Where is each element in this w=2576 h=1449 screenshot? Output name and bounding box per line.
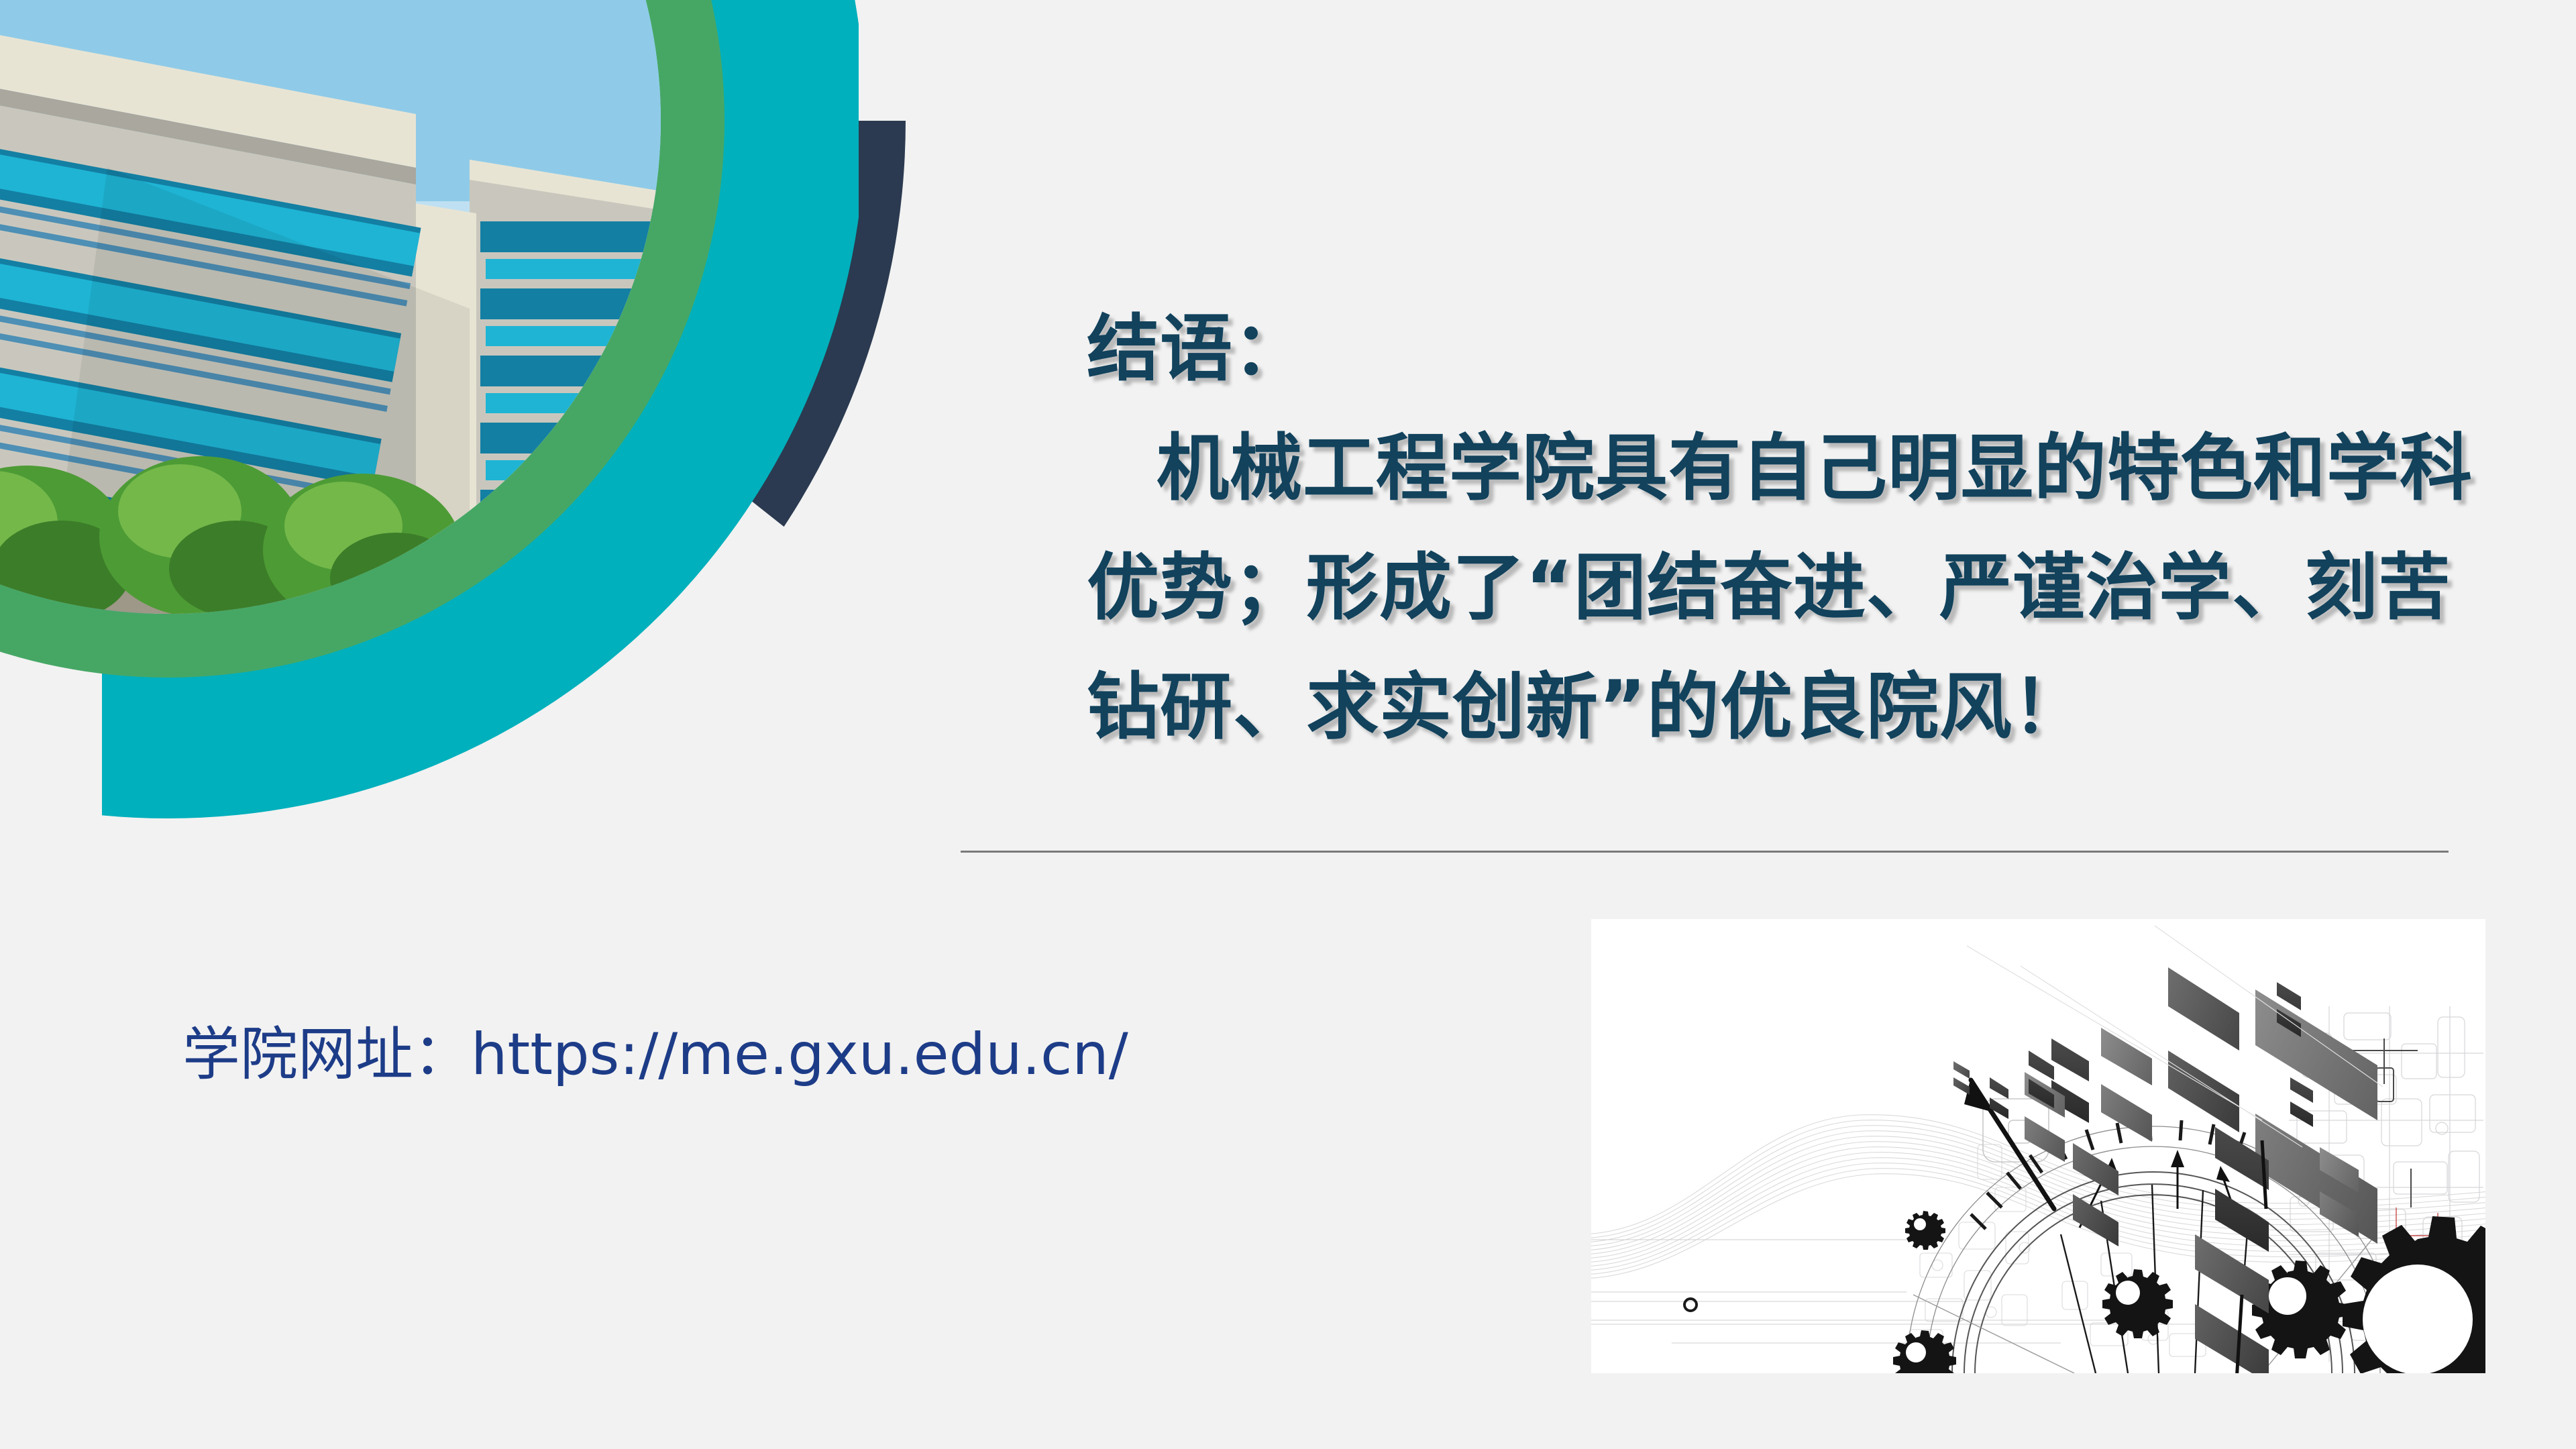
arc-navy-outer xyxy=(0,0,906,859)
tree-cluster xyxy=(0,456,462,639)
decorative-arc-cluster xyxy=(0,0,1140,899)
arc-navy-inner xyxy=(0,0,775,728)
mechanical-tech-illustration xyxy=(1591,919,2485,1373)
arc-green xyxy=(0,0,724,678)
arc-teal xyxy=(0,0,865,818)
building-photo xyxy=(0,0,1006,698)
copy-line-3: 钻研、求实创新”的优良院风！ xyxy=(1087,648,2469,767)
presentation-slide: 结语： 机械工程学院具有自己明显的特色和学科 优势；形成了“团结奋进、严谨治学、… xyxy=(0,0,2576,1449)
copy-line-2: 优势；形成了“团结奋进、严谨治学、刻苦 xyxy=(1087,529,2469,648)
section-divider xyxy=(961,851,2449,853)
college-website-link[interactable]: 学院网址：https://me.gxu.edu.cn/ xyxy=(182,1014,1128,1095)
copy-line-1: 机械工程学院具有自己明显的特色和学科 xyxy=(1087,409,2469,529)
copy-heading: 结语： xyxy=(1087,290,2469,409)
conclusion-copy-block: 结语： 机械工程学院具有自己明显的特色和学科 优势；形成了“团结奋进、严谨治学、… xyxy=(1087,290,2469,767)
